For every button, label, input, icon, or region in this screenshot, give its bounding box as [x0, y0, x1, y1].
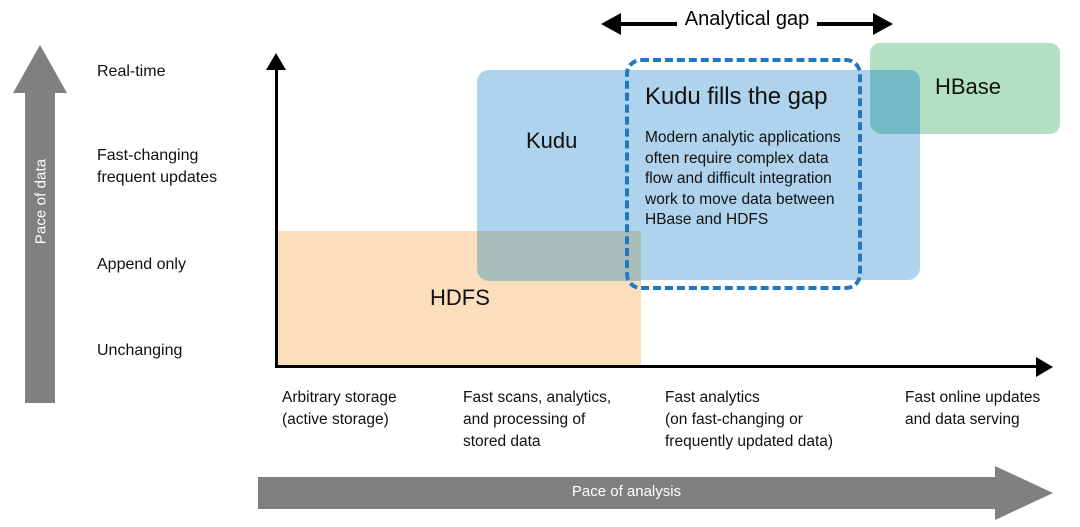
y-label-fast-changing: Fast-changing frequent updates — [97, 145, 267, 189]
callout-title: Kudu fills the gap — [645, 83, 860, 111]
diagram-canvas: Pace of data Real-time Fast-changing fre… — [0, 0, 1080, 527]
pace-of-analysis-label: Pace of analysis — [258, 483, 995, 500]
arrow-head-right-icon — [873, 13, 893, 35]
analytical-gap-label: Analytical gap — [677, 8, 817, 31]
x-axis-arrow-icon — [1036, 357, 1053, 377]
callout-body: Modern analytic applications often requi… — [645, 128, 857, 231]
pace-of-data-arrow: Pace of data — [13, 45, 67, 403]
x-axis-line — [275, 365, 1039, 368]
analytical-gap-arrow: Analytical gap — [601, 8, 893, 42]
arrow-head-right-icon — [995, 466, 1053, 520]
region-label-hdfs: HDFS — [430, 285, 490, 311]
y-label-append-only: Append only — [97, 254, 267, 276]
x-label-fast-scans: Fast scans, analytics, and processing of… — [463, 387, 658, 453]
overlap-hdfs-kudu — [477, 231, 641, 281]
region-label-kudu: Kudu — [526, 128, 577, 154]
arrow-line-right — [817, 22, 877, 26]
arrow-line-left — [617, 22, 677, 26]
pace-of-analysis-arrow: Pace of analysis — [258, 466, 1053, 520]
arrow-head-up-icon — [13, 45, 67, 93]
region-label-hbase: HBase — [935, 74, 1001, 100]
y-label-real-time: Real-time — [97, 61, 267, 83]
x-label-fast-analytics: Fast analytics (on fast-changing or freq… — [665, 387, 900, 453]
y-axis-arrow-icon — [266, 53, 286, 70]
y-label-unchanging: Unchanging — [97, 340, 267, 362]
y-axis-line — [275, 68, 278, 367]
x-label-fast-online: Fast online updates and data serving — [905, 387, 1080, 431]
x-label-arbitrary-storage: Arbitrary storage (active storage) — [282, 387, 457, 431]
overlap-kudu-hbase — [870, 70, 920, 134]
pace-of-data-label: Pace of data — [33, 112, 50, 292]
